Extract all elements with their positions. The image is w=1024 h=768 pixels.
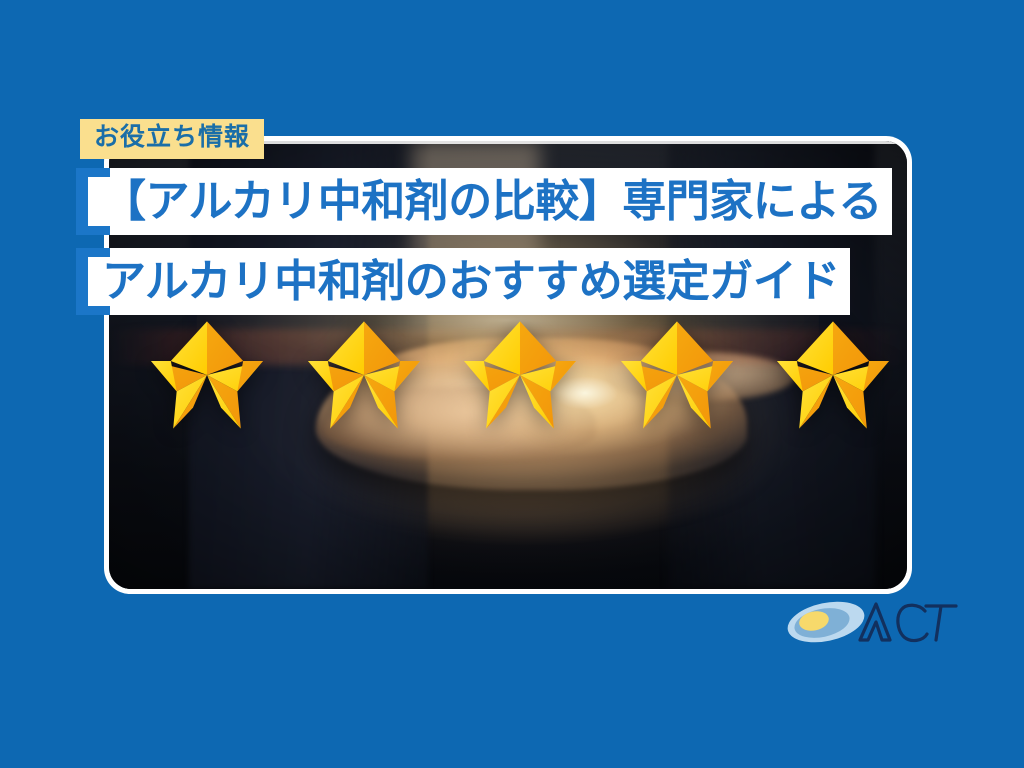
act-logo [786,596,958,648]
category-badge: お役立ち情報 [80,119,264,159]
act-wordmark [860,604,956,641]
photo-fingers [324,387,595,459]
oval-swoosh-icon [786,596,868,648]
title-line-2-row: アルカリ中和剤のおすすめ選定ガイド [80,248,892,315]
title-accent-tab-bottom [76,306,110,315]
title-line-2: アルカリ中和剤のおすすめ選定ガイド [80,248,850,315]
title-line-1: 【アルカリ中和剤の比較】専門家による [80,168,892,235]
title-accent-bar [76,248,88,315]
photo-thumb [604,352,796,401]
title-accent-bar [76,168,88,235]
title-accent-tab-top [76,248,110,257]
banner-canvas: スーツ姿のビジネスマンが手のひらを上に差し出し、金色の光と5つの星が浮かんでいる… [0,0,1024,768]
title-accent-tab-bottom [76,226,110,235]
page-title: 【アルカリ中和剤の比較】専門家による アルカリ中和剤のおすすめ選定ガイド [80,168,892,328]
title-line-1-row: 【アルカリ中和剤の比較】専門家による [80,168,892,235]
title-accent-tab-top [76,168,110,177]
